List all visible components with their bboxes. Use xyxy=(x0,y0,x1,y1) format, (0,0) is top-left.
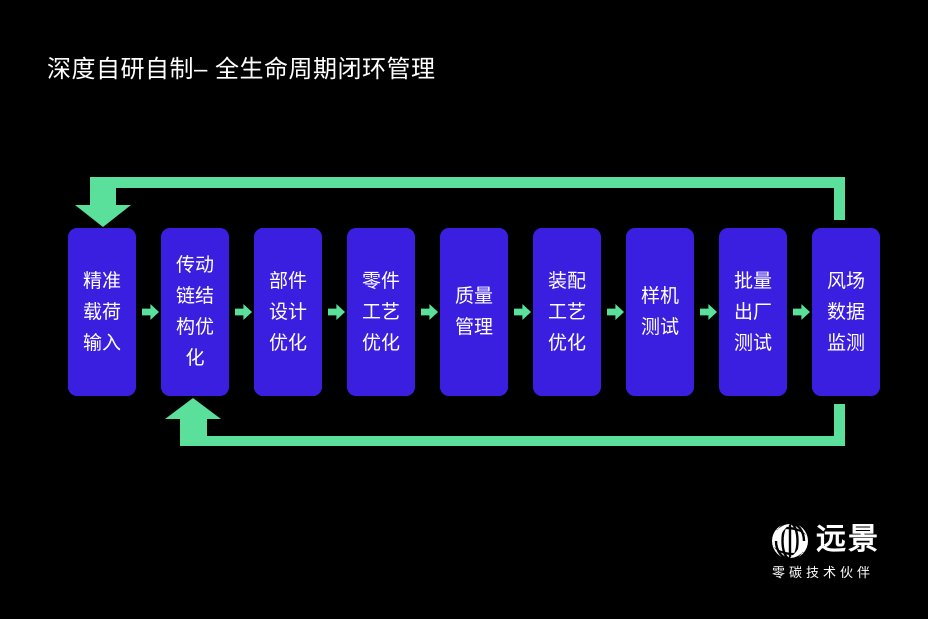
logo-tagline: 零碳技术伙伴 xyxy=(772,564,874,581)
arrow-right-icon-2 xyxy=(235,304,252,320)
arrow-right-icon-8 xyxy=(793,304,810,320)
flow-step-2[interactable]: 传动链结构优化 xyxy=(161,228,229,396)
flow-step-label: 精准载荷输入 xyxy=(74,266,130,359)
arrow-right-icon-6 xyxy=(607,304,624,320)
envision-globe-icon xyxy=(770,521,810,561)
flow-step-label: 质量管理 xyxy=(446,281,502,343)
flow-step-3[interactable]: 部件设计优化 xyxy=(254,228,322,396)
page-title: 深度自研自制– 全生命周期闭环管理 xyxy=(47,55,436,85)
logo-wordmark: 远景 xyxy=(816,521,880,559)
flow-step-label: 零件工艺优化 xyxy=(353,266,409,359)
loop-arrow-top xyxy=(0,165,928,227)
flow-step-5[interactable]: 质量管理 xyxy=(440,228,508,396)
loop-arrow-bottom xyxy=(0,398,928,458)
brand-logo: 远景 零碳技术伙伴 xyxy=(770,521,910,585)
process-flow-row: 精准载荷输入 传动链结构优化 部件设计优化 零件工艺优化 xyxy=(0,228,928,396)
arrow-right-icon-3 xyxy=(328,304,345,320)
flow-step-6[interactable]: 装配工艺优化 xyxy=(533,228,601,396)
flow-step-label: 装配工艺优化 xyxy=(539,266,595,359)
flow-step-7[interactable]: 样机测试 xyxy=(626,228,694,396)
flow-step-9[interactable]: 风场数据监测 xyxy=(812,228,880,396)
arrow-right-icon-1 xyxy=(142,304,159,320)
flow-step-1[interactable]: 精准载荷输入 xyxy=(68,228,136,396)
flow-step-8[interactable]: 批量出厂测试 xyxy=(719,228,787,396)
slide-canvas: 深度自研自制– 全生命周期闭环管理 精准载荷输入 传动链结构优化 部件设计优化 xyxy=(0,0,928,619)
flow-step-label: 风场数据监测 xyxy=(818,266,874,359)
flow-step-label: 样机测试 xyxy=(632,281,688,343)
flow-step-label: 批量出厂测试 xyxy=(725,266,781,359)
arrow-right-icon-4 xyxy=(421,304,438,320)
arrow-right-icon-5 xyxy=(514,304,531,320)
flow-step-4[interactable]: 零件工艺优化 xyxy=(347,228,415,396)
arrow-right-icon-7 xyxy=(700,304,717,320)
flow-step-label: 传动链结构优化 xyxy=(167,250,223,374)
flow-step-label: 部件设计优化 xyxy=(260,266,316,359)
